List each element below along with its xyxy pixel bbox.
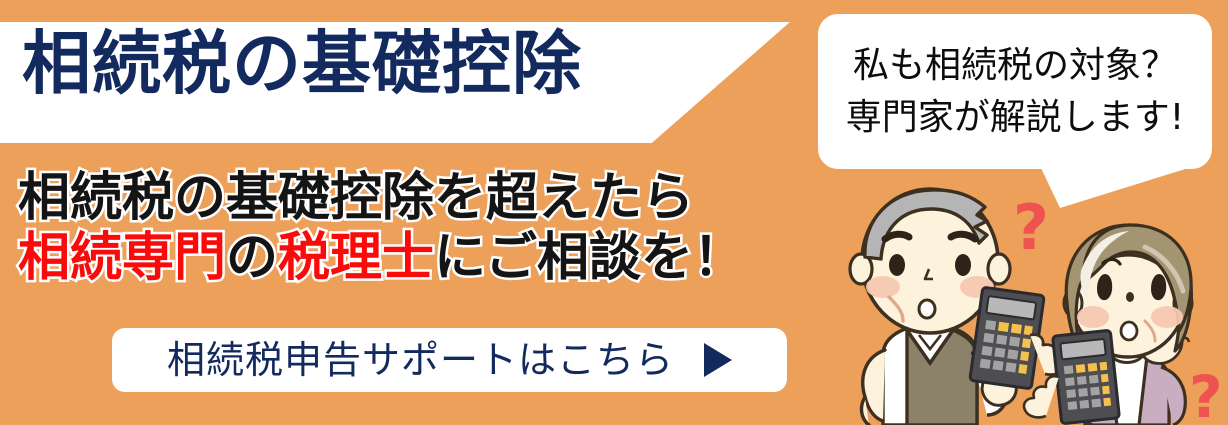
headline-emphasis-2: 税理士	[278, 228, 434, 288]
cta-button-label: 相続税申告サポートはこちら	[167, 341, 674, 379]
cta-button[interactable]: 相続税申告サポートはこちら	[112, 328, 787, 392]
elderly-couple-illustration: ?	[845, 185, 1228, 425]
headline-emphasis-1: 相続専門	[18, 228, 226, 288]
speech-bubble-line-2: 専門家が解説します!	[846, 96, 1184, 140]
speech-bubble-line-1: 私も相続税の対象？	[853, 44, 1177, 88]
elderly-woman-with-calculator: ?	[1024, 225, 1223, 425]
headline-block: 相続税の基礎控除を超えたら 相続専門の税理士にご相談を！	[18, 168, 808, 288]
question-mark-icon: ?	[1013, 191, 1049, 264]
headline-plain-1: の	[226, 228, 278, 288]
page-title: 相続税の基礎控除	[22, 30, 582, 99]
headline-line-2: 相続専門の税理士にご相談を！	[18, 228, 808, 288]
speech-bubble: 私も相続税の対象？ 専門家が解説します!	[818, 14, 1212, 169]
headline-line-1: 相続税の基礎控除を超えたら	[18, 168, 808, 228]
headline-plain-2: にご相談を！	[434, 228, 745, 288]
question-mark-icon: ?	[1189, 363, 1223, 425]
inheritance-tax-banner: 相続税の基礎控除 相続税の基礎控除を超えたら 相続専門の税理士にご相談を！ 相続…	[0, 0, 1228, 425]
play-triangle-icon	[704, 343, 732, 377]
